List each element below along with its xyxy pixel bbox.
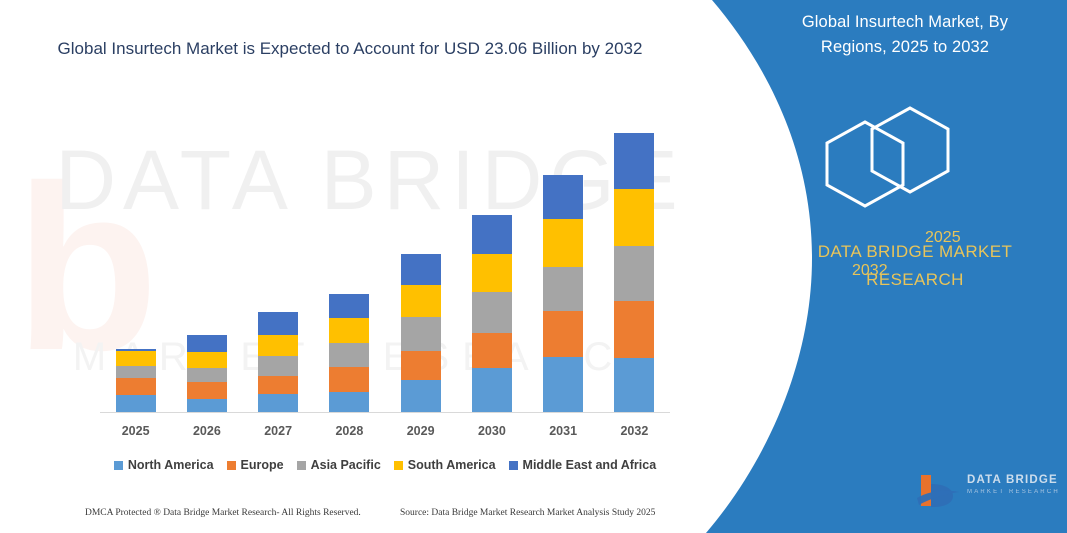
footer-source: Source: Data Bridge Market Research Mark… [400, 508, 655, 518]
legend-item-middle-east-and-africa[interactable]: Middle East and Africa [509, 458, 657, 472]
bar-2031 [543, 175, 583, 413]
bar-segment-north-america-2032 [614, 358, 654, 413]
legend-label: Middle East and Africa [523, 458, 657, 472]
x-label-2029: 2029 [386, 424, 456, 438]
bar-segment-north-america-2029 [401, 380, 441, 413]
legend-swatch-icon [509, 461, 518, 470]
legend-swatch-icon [394, 461, 403, 470]
logo-text-block: DATA BRIDGE MARKET RESEARCH [967, 474, 1060, 495]
bar-segment-north-america-2028 [329, 392, 369, 413]
bar-segment-north-america-2027 [258, 394, 298, 413]
bar-segment-south-america-2026 [187, 352, 227, 368]
bar-2028 [329, 294, 369, 413]
legend-swatch-icon [114, 461, 123, 470]
bar-segment-asia-pacific-2025 [116, 366, 156, 378]
x-label-2025: 2025 [101, 424, 171, 438]
legend-swatch-icon [297, 461, 306, 470]
x-label-2026: 2026 [172, 424, 242, 438]
bar-segment-north-america-2026 [187, 399, 227, 413]
legend-item-europe[interactable]: Europe [227, 458, 284, 472]
logo-b-icon [915, 472, 963, 512]
bar-2029 [401, 254, 441, 413]
bar-segment-europe-2031 [543, 311, 583, 357]
bar-segment-europe-2029 [401, 351, 441, 381]
bar-segment-asia-pacific-2029 [401, 317, 441, 351]
chart-legend: North AmericaEuropeAsia PacificSouth Ame… [100, 455, 670, 475]
bar-segment-south-america-2029 [401, 285, 441, 318]
legend-item-asia-pacific[interactable]: Asia Pacific [297, 458, 381, 472]
legend-swatch-icon [227, 461, 236, 470]
bar-segment-south-america-2028 [329, 318, 369, 342]
legend-item-south-america[interactable]: South America [394, 458, 496, 472]
brand-name: DATA BRIDGE MARKET RESEARCH [790, 238, 1040, 294]
bar-segment-north-america-2025 [116, 395, 156, 413]
x-axis-line [100, 412, 670, 413]
legend-label: Europe [241, 458, 284, 472]
bar-segment-europe-2032 [614, 301, 654, 358]
x-label-2028: 2028 [314, 424, 384, 438]
plot-area [100, 120, 670, 413]
logo-subtitle: MARKET RESEARCH [967, 489, 1060, 495]
legend-item-north-america[interactable]: North America [114, 458, 214, 472]
bar-segment-middle-east-and-africa-2027 [258, 312, 298, 334]
x-label-2031: 2031 [528, 424, 598, 438]
bar-segment-middle-east-and-africa-2028 [329, 294, 369, 318]
brand-line-1: DATA BRIDGE MARKET [790, 238, 1040, 266]
stacked-bar-chart: 20252026202720282029203020312032 North A… [0, 0, 710, 533]
bar-2030 [472, 215, 512, 413]
bar-segment-middle-east-and-africa-2026 [187, 335, 227, 352]
bar-2026 [187, 335, 227, 413]
bar-segment-asia-pacific-2031 [543, 267, 583, 312]
brand-line-2: RESEARCH [790, 266, 1040, 294]
bar-segment-asia-pacific-2027 [258, 356, 298, 376]
bar-segment-europe-2027 [258, 376, 298, 393]
logo-name: DATA BRIDGE [967, 474, 1060, 486]
x-label-2032: 2032 [599, 424, 669, 438]
bar-segment-middle-east-and-africa-2030 [472, 215, 512, 255]
bar-segment-north-america-2030 [472, 368, 512, 413]
legend-label: North America [128, 458, 214, 472]
bar-segment-north-america-2031 [543, 357, 583, 413]
bar-segment-south-america-2027 [258, 335, 298, 356]
bar-2032 [614, 133, 654, 413]
bar-segment-europe-2030 [472, 333, 512, 369]
bar-segment-europe-2025 [116, 378, 156, 394]
bar-segment-south-america-2030 [472, 254, 512, 292]
bar-segment-middle-east-and-africa-2029 [401, 254, 441, 285]
infographic-root: b DATA BRIDGE MARKET RESEARCH Global Ins… [0, 0, 1067, 533]
x-axis-labels: 20252026202720282029203020312032 [100, 424, 670, 444]
bar-segment-middle-east-and-africa-2031 [543, 175, 583, 219]
footer: DMCA Protected ® Data Bridge Market Rese… [0, 505, 700, 525]
bar-segment-asia-pacific-2026 [187, 368, 227, 382]
bar-segment-europe-2026 [187, 382, 227, 398]
bar-segment-asia-pacific-2028 [329, 343, 369, 367]
bar-segment-south-america-2031 [543, 219, 583, 267]
x-label-2030: 2030 [457, 424, 527, 438]
x-label-2027: 2027 [243, 424, 313, 438]
legend-label: Asia Pacific [311, 458, 381, 472]
bar-segment-europe-2028 [329, 367, 369, 391]
bar-segment-middle-east-and-africa-2032 [614, 133, 654, 189]
bar-2027 [258, 312, 298, 413]
hexagon-2025 [872, 108, 948, 192]
bar-segment-asia-pacific-2032 [614, 246, 654, 301]
hexagon-2032 [827, 122, 903, 206]
legend-label: South America [408, 458, 496, 472]
panel-title: Global Insurtech Market, By Regions, 202… [770, 10, 1040, 60]
bar-segment-south-america-2032 [614, 189, 654, 246]
footer-copyright: DMCA Protected ® Data Bridge Market Rese… [85, 508, 361, 518]
bar-segment-asia-pacific-2030 [472, 292, 512, 333]
bar-2025 [116, 349, 156, 413]
bar-segment-south-america-2025 [116, 351, 156, 366]
hexagon-group: 2025 2032 [820, 100, 1000, 210]
company-logo: DATA BRIDGE MARKET RESEARCH [915, 472, 1060, 512]
